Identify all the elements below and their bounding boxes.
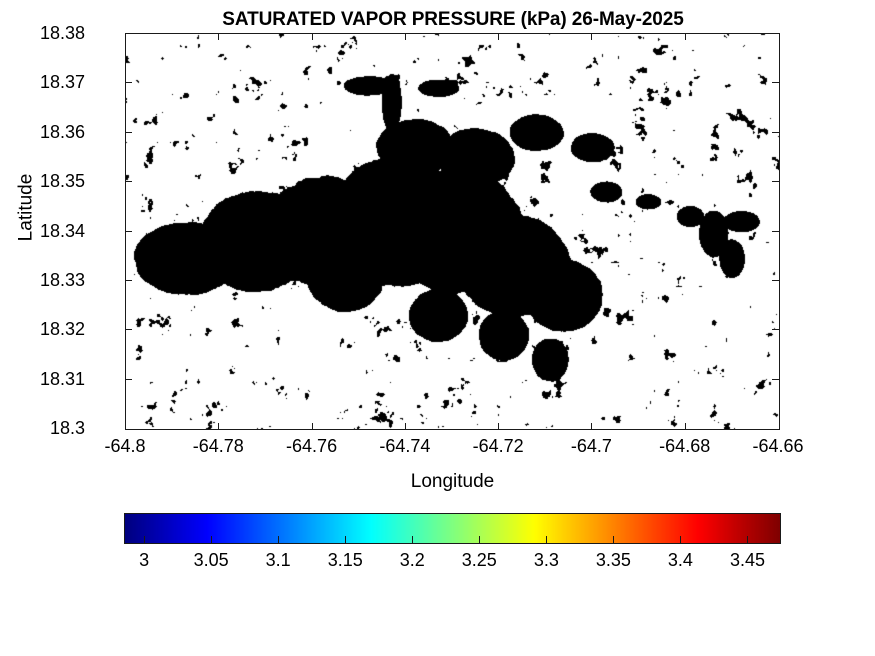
colorbar-tick — [613, 536, 614, 544]
y-axis-tick-label: 18.3 — [50, 419, 85, 437]
figure-canvas: SATURATED VAPOR PRESSURE (kPa) 26-May-20… — [0, 0, 875, 656]
colorbar-tick — [144, 536, 145, 544]
colorbar-tick-label: 3.15 — [328, 551, 363, 569]
y-axis-tick-label: 18.36 — [40, 123, 85, 141]
colorbar-tick — [412, 536, 413, 544]
y-axis-tick — [772, 280, 779, 281]
x-axis-tick — [312, 423, 313, 430]
x-axis-tick — [218, 33, 219, 40]
colorbar-tick-label: 3.35 — [596, 551, 631, 569]
page-title: SATURATED VAPOR PRESSURE (kPa) 26-May-20… — [125, 9, 781, 31]
y-axis-tick-label: 18.32 — [40, 320, 85, 338]
colorbar[interactable] — [124, 513, 781, 544]
x-axis-tick — [405, 423, 406, 430]
map-axes[interactable] — [125, 33, 780, 430]
colorbar-tick — [680, 536, 681, 544]
x-axis-tick — [591, 33, 592, 40]
y-axis-title: Latitude — [17, 118, 36, 298]
colorbar-gradient[interactable] — [124, 513, 781, 544]
x-axis-tick-label: -64.72 — [473, 437, 524, 455]
y-axis-tick — [772, 132, 779, 133]
x-axis-tick-label: -64.74 — [379, 437, 430, 455]
x-axis-tick — [498, 33, 499, 40]
y-axis-tick-label: 18.37 — [40, 73, 85, 91]
colorbar-tick — [747, 536, 748, 544]
y-axis-tick-label: 18.34 — [40, 222, 85, 240]
colorbar-tick-label: 3.25 — [462, 551, 497, 569]
x-axis-tick-label: -64.7 — [571, 437, 612, 455]
y-axis-tick — [125, 181, 132, 182]
y-axis-tick — [772, 329, 779, 330]
x-axis-tick — [685, 423, 686, 430]
y-axis-tick — [772, 82, 779, 83]
x-axis-tick — [498, 423, 499, 430]
y-axis-tick-label: 18.35 — [40, 172, 85, 190]
y-axis-tick — [772, 379, 779, 380]
colorbar-tick — [211, 536, 212, 544]
x-axis-title: Longitude — [125, 472, 780, 491]
x-axis-tick-label: -64.76 — [286, 437, 337, 455]
x-axis-tick-label: -64.78 — [193, 437, 244, 455]
colorbar-tick-label: 3.2 — [400, 551, 425, 569]
y-axis-tick — [125, 379, 132, 380]
x-axis-tick-label: -64.8 — [104, 437, 145, 455]
colorbar-tick — [479, 536, 480, 544]
y-axis-tick — [772, 181, 779, 182]
x-axis-tick — [685, 33, 686, 40]
colorbar-tick — [546, 536, 547, 544]
y-axis-tick — [125, 82, 132, 83]
colorbar-tick — [278, 536, 279, 544]
colorbar-tick-label: 3.4 — [668, 551, 693, 569]
y-axis-tick — [125, 132, 132, 133]
y-axis-tick — [772, 231, 779, 232]
y-axis-tick-label: 18.38 — [40, 24, 85, 42]
colorbar-tick — [345, 536, 346, 544]
y-axis-tick — [125, 280, 132, 281]
x-axis-tick-label: -64.66 — [752, 437, 803, 455]
x-axis-tick — [218, 423, 219, 430]
y-axis-tick — [125, 329, 132, 330]
x-axis-tick — [591, 423, 592, 430]
colorbar-tick-label: 3.3 — [534, 551, 559, 569]
vapor-pressure-heatmap[interactable] — [126, 34, 779, 429]
x-axis-tick — [405, 33, 406, 40]
x-axis-tick-label: -64.68 — [659, 437, 710, 455]
x-axis-tick — [312, 33, 313, 40]
colorbar-tick-label: 3.05 — [194, 551, 229, 569]
y-axis-tick — [125, 231, 132, 232]
colorbar-tick-label: 3.45 — [730, 551, 765, 569]
colorbar-tick-label: 3 — [139, 551, 149, 569]
y-axis-tick-label: 18.33 — [40, 271, 85, 289]
y-axis-tick-label: 18.31 — [40, 370, 85, 388]
colorbar-tick-label: 3.1 — [266, 551, 291, 569]
